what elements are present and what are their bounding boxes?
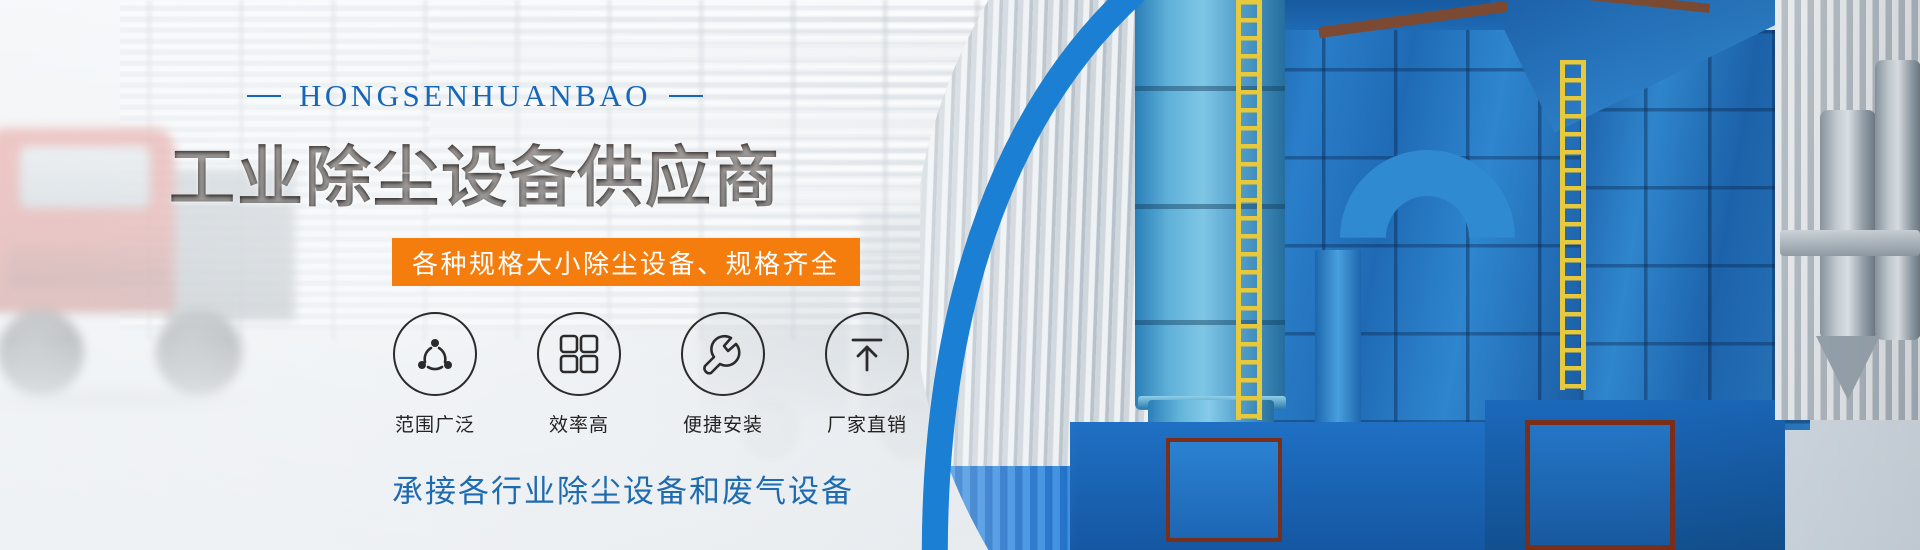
feature-label: 范围广泛 [395, 410, 475, 437]
headline: 工业除尘设备供应商 [0, 124, 950, 220]
feature-item-direct-sales[interactable]: 厂家直销 [824, 312, 910, 437]
feature-label: 效率高 [549, 410, 609, 437]
grid-squares-icon [557, 332, 601, 376]
feature-icon-circle [681, 312, 765, 396]
subtitle-text: 各种规格大小除尘设备、规格齐全 [412, 244, 840, 281]
banner-content: HONGSENHUANBAO 工业除尘设备供应商 各种规格大小除尘设备、规格齐全 [0, 0, 1000, 550]
eyebrow-line: HONGSENHUANBAO [0, 78, 950, 114]
product-photo [920, 0, 1920, 550]
subtitle-bar: 各种规格大小除尘设备、规格齐全 [392, 238, 860, 286]
network-nodes-icon [412, 331, 458, 377]
dash-right-icon [669, 95, 703, 97]
feature-item-efficiency[interactable]: 效率高 [536, 312, 622, 437]
feature-label: 便捷安装 [683, 410, 763, 437]
feature-list: 范围广泛 效率高 [392, 312, 912, 437]
upload-arrow-icon [845, 332, 889, 376]
feature-item-installation[interactable]: 便捷安装 [680, 312, 766, 437]
wrench-icon [700, 331, 746, 377]
photo-shading-overlay [920, 0, 1920, 550]
dash-left-icon [247, 95, 281, 97]
feature-icon-circle [537, 312, 621, 396]
feature-label: 厂家直销 [827, 410, 907, 437]
hero-banner: HONGSENHUANBAO 工业除尘设备供应商 各种规格大小除尘设备、规格齐全 [0, 0, 1920, 550]
feature-icon-circle [825, 312, 909, 396]
feature-icon-circle [393, 312, 477, 396]
eyebrow-text: HONGSENHUANBAO [299, 78, 651, 113]
tagline: 承接各行业除尘设备和废气设备 [392, 466, 854, 511]
feature-item-coverage[interactable]: 范围广泛 [392, 312, 478, 437]
